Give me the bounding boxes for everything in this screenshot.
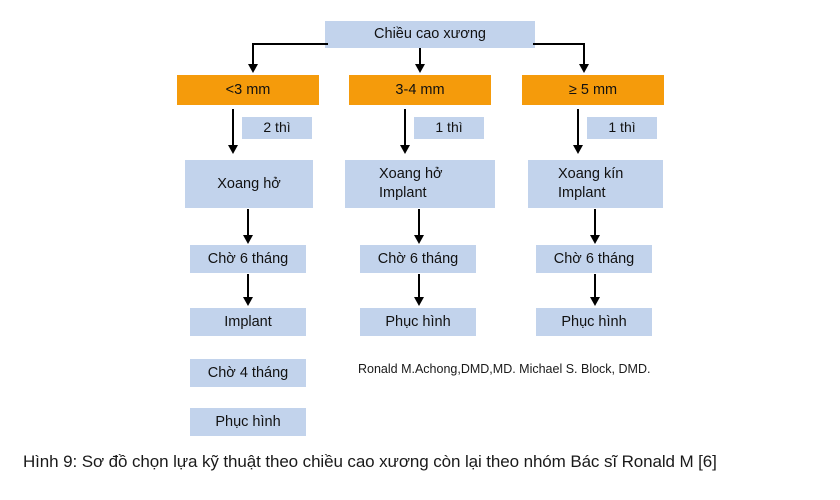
arrowhead-col2-cond-to-s1 [400, 145, 410, 154]
arrowhead-col1-s1-to-s2 [243, 235, 253, 244]
connector-col1-s2-to-s3 [247, 274, 249, 298]
connector-col3-cond-to-s1 [577, 109, 579, 146]
figure-caption: Hình 9: Sơ đồ chọn lựa kỹ thuật theo chi… [23, 452, 717, 472]
node-col1-step5: Phục hình [190, 408, 306, 436]
connector-col2-s2-to-s3 [418, 274, 420, 298]
arrowhead-col3-cond-to-s1 [573, 145, 583, 154]
node-condition-col3: ≥ 5 mm [522, 75, 664, 105]
connector-root-right-horizontal [533, 43, 585, 45]
node-col1-step1: Xoang hở [185, 160, 313, 208]
arrowhead-col3-s1-to-s2 [590, 235, 600, 244]
arrowhead-col2-s1-to-s2 [414, 235, 424, 244]
tag-stage-col1: 2 thì [242, 117, 312, 139]
node-col1-step2: Chờ 6 tháng [190, 245, 306, 273]
arrowhead-root-right [579, 64, 589, 73]
connector-col1-s1-to-s2 [247, 209, 249, 236]
node-col1-step4: Chờ 4 tháng [190, 359, 306, 387]
node-col2-step2: Chờ 6 tháng [360, 245, 476, 273]
node-condition-col1: <3 mm [177, 75, 319, 105]
connector-col2-cond-to-s1 [404, 109, 406, 146]
arrowhead-col1-s2-to-s3 [243, 297, 253, 306]
node-col1-step3: Implant [190, 308, 306, 336]
node-col3-step3: Phục hình [536, 308, 652, 336]
arrowhead-root-left [248, 64, 258, 73]
node-col2-step3: Phục hình [360, 308, 476, 336]
arrowhead-col2-s2-to-s3 [414, 297, 424, 306]
connector-col1-cond-to-s1 [232, 109, 234, 146]
node-col2-step1: Xoang hở Implant [345, 160, 495, 208]
arrowhead-col1-cond-to-s1 [228, 145, 238, 154]
connector-col3-s2-to-s3 [594, 274, 596, 298]
node-col3-step1: Xoang kín Implant [528, 160, 663, 208]
connector-col3-s1-to-s2 [594, 209, 596, 236]
connector-root-right-vertical [583, 43, 585, 65]
node-col3-step2: Chờ 6 tháng [536, 245, 652, 273]
connector-root-left-vertical [252, 43, 254, 65]
connector-root-left-horizontal [252, 43, 328, 45]
tag-stage-col2: 1 thì [414, 117, 484, 139]
arrowhead-root-middle [415, 64, 425, 73]
tag-stage-col3: 1 thì [587, 117, 657, 139]
figure-credit: Ronald M.Achong,DMD,MD. Michael S. Block… [358, 362, 650, 376]
node-root: Chiều cao xương [325, 21, 535, 48]
connector-col2-s1-to-s2 [418, 209, 420, 236]
arrowhead-col3-s2-to-s3 [590, 297, 600, 306]
node-condition-col2: 3-4 mm [349, 75, 491, 105]
connector-root-middle-vertical [419, 48, 421, 65]
figure-canvas: Chiều cao xương <3 mm 3-4 mm ≥ 5 mm 2 th… [0, 0, 840, 500]
